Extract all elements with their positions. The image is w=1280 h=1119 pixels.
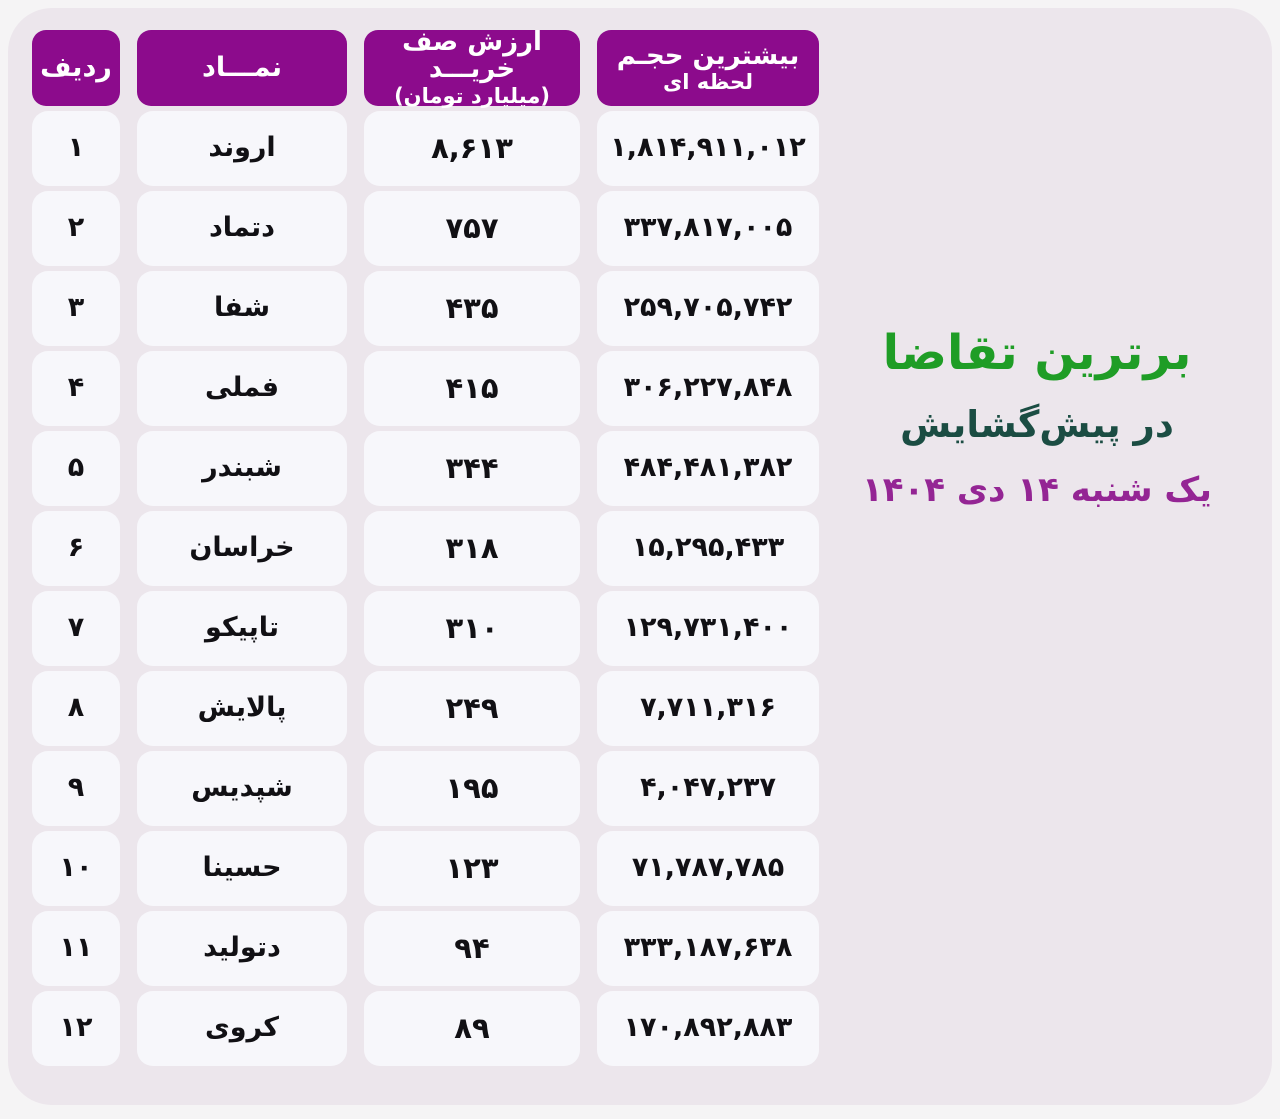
table-row: ۷ تاپیکو ۳۱۰ ۱۲۹,۷۳۱,۴۰۰ bbox=[32, 591, 842, 666]
cell-value: ۲۴۹ bbox=[364, 671, 580, 746]
cell-symbol: فملی bbox=[137, 351, 347, 426]
content-panel: ردیف نمـــاد ارزش صف خریـــد (میلیارد تو… bbox=[8, 8, 1272, 1105]
table-row: ۹ شپدیس ۱۹۵ ۴,۰۴۷,۲۳۷ bbox=[32, 751, 842, 826]
cell-symbol: شفا bbox=[137, 271, 347, 346]
column-header-buy-queue-value-label: ارزش صف خریـــد bbox=[368, 29, 576, 84]
column-header-rank: ردیف bbox=[32, 30, 120, 106]
cell-volume: ۱۲۹,۷۳۱,۴۰۰ bbox=[597, 591, 819, 666]
page-date: یک شنبه ۱۴ دی ۱۴۰۴ bbox=[842, 470, 1232, 511]
cell-volume: ۷,۷۱۱,۳۱۶ bbox=[597, 671, 819, 746]
title-block: برترین تقاضا در پیش‌گشایش یک شنبه ۱۴ دی … bbox=[842, 326, 1232, 510]
table-row: ۳ شفا ۴۳۵ ۲۵۹,۷۰۵,۷۴۲ bbox=[32, 271, 842, 346]
page-title: برترین تقاضا bbox=[842, 326, 1232, 381]
demand-table: ردیف نمـــاد ارزش صف خریـــد (میلیارد تو… bbox=[32, 30, 842, 1085]
cell-value: ۴۱۵ bbox=[364, 351, 580, 426]
cell-rank: ۱۰ bbox=[32, 831, 120, 906]
table-row: ۱۰ حسینا ۱۲۳ ۷۱,۷۸۷,۷۸۵ bbox=[32, 831, 842, 906]
table-row: ۱ اروند ۸,۶۱۳ ۱,۸۱۴,۹۱۱,۰۱۲ bbox=[32, 111, 842, 186]
column-header-buy-queue-value-unit: (میلیارد تومان) bbox=[394, 85, 550, 107]
cell-volume: ۳۰۶,۲۲۷,۸۴۸ bbox=[597, 351, 819, 426]
cell-symbol: دتولید bbox=[137, 911, 347, 986]
cell-symbol: خراسان bbox=[137, 511, 347, 586]
cell-value: ۳۴۴ bbox=[364, 431, 580, 506]
column-header-symbol: نمـــاد bbox=[137, 30, 347, 106]
cell-symbol: پالایش bbox=[137, 671, 347, 746]
cell-volume: ۷۱,۷۸۷,۷۸۵ bbox=[597, 831, 819, 906]
cell-rank: ۹ bbox=[32, 751, 120, 826]
cell-volume: ۱,۸۱۴,۹۱۱,۰۱۲ bbox=[597, 111, 819, 186]
table-header-row: ردیف نمـــاد ارزش صف خریـــد (میلیارد تو… bbox=[32, 30, 842, 106]
cell-rank: ۱ bbox=[32, 111, 120, 186]
cell-rank: ۴ bbox=[32, 351, 120, 426]
cell-value: ۱۹۵ bbox=[364, 751, 580, 826]
page-subtitle: در پیش‌گشایش bbox=[842, 403, 1232, 447]
column-header-symbol-label: نمـــاد bbox=[202, 54, 282, 82]
cell-rank: ۱۱ bbox=[32, 911, 120, 986]
table-row: ۴ فملی ۴۱۵ ۳۰۶,۲۲۷,۸۴۸ bbox=[32, 351, 842, 426]
table-row: ۱۱ دتولید ۹۴ ۳۳۳,۱۸۷,۶۳۸ bbox=[32, 911, 842, 986]
cell-symbol: کروی bbox=[137, 991, 347, 1066]
cell-volume: ۳۳۳,۱۸۷,۶۳۸ bbox=[597, 911, 819, 986]
cell-value: ۴۳۵ bbox=[364, 271, 580, 346]
column-header-max-volume-sub: لحظه ای bbox=[663, 71, 753, 93]
cell-value: ۷۵۷ bbox=[364, 191, 580, 266]
cell-volume: ۱۷۰,۸۹۲,۸۸۳ bbox=[597, 991, 819, 1066]
cell-rank: ۷ bbox=[32, 591, 120, 666]
cell-rank: ۳ bbox=[32, 271, 120, 346]
table-row: ۱۲ کروی ۸۹ ۱۷۰,۸۹۲,۸۸۳ bbox=[32, 991, 842, 1066]
cell-value: ۸۹ bbox=[364, 991, 580, 1066]
table-row: ۲ دتماد ۷۵۷ ۳۳۷,۸۱۷,۰۰۵ bbox=[32, 191, 842, 266]
cell-value: ۹۴ bbox=[364, 911, 580, 986]
table-row: ۸ پالایش ۲۴۹ ۷,۷۱۱,۳۱۶ bbox=[32, 671, 842, 746]
cell-volume: ۱۵,۲۹۵,۴۳۳ bbox=[597, 511, 819, 586]
cell-value: ۳۱۸ bbox=[364, 511, 580, 586]
cell-volume: ۲۵۹,۷۰۵,۷۴۲ bbox=[597, 271, 819, 346]
table-row: ۶ خراسان ۳۱۸ ۱۵,۲۹۵,۴۳۳ bbox=[32, 511, 842, 586]
column-header-rank-label: ردیف bbox=[40, 54, 112, 82]
cell-rank: ۱۲ bbox=[32, 991, 120, 1066]
cell-rank: ۲ bbox=[32, 191, 120, 266]
table-row: ۵ شبندر ۳۴۴ ۴۸۴,۴۸۱,۳۸۲ bbox=[32, 431, 842, 506]
cell-value: ۱۲۳ bbox=[364, 831, 580, 906]
cell-volume: ۴۸۴,۴۸۱,۳۸۲ bbox=[597, 431, 819, 506]
cell-symbol: حسینا bbox=[137, 831, 347, 906]
cell-value: ۸,۶۱۳ bbox=[364, 111, 580, 186]
cell-symbol: شپدیس bbox=[137, 751, 347, 826]
cell-volume: ۴,۰۴۷,۲۳۷ bbox=[597, 751, 819, 826]
column-header-max-volume-label: بیشترین حجـم bbox=[617, 43, 800, 70]
cell-value: ۳۱۰ bbox=[364, 591, 580, 666]
column-header-buy-queue-value: ارزش صف خریـــد (میلیارد تومان) bbox=[364, 30, 580, 106]
cell-volume: ۳۳۷,۸۱۷,۰۰۵ bbox=[597, 191, 819, 266]
cell-symbol: تاپیکو bbox=[137, 591, 347, 666]
cell-symbol: دتماد bbox=[137, 191, 347, 266]
cell-symbol: اروند bbox=[137, 111, 347, 186]
column-header-max-volume: بیشترین حجـم لحظه ای bbox=[597, 30, 819, 106]
cell-symbol: شبندر bbox=[137, 431, 347, 506]
cell-rank: ۶ bbox=[32, 511, 120, 586]
cell-rank: ۵ bbox=[32, 431, 120, 506]
cell-rank: ۸ bbox=[32, 671, 120, 746]
